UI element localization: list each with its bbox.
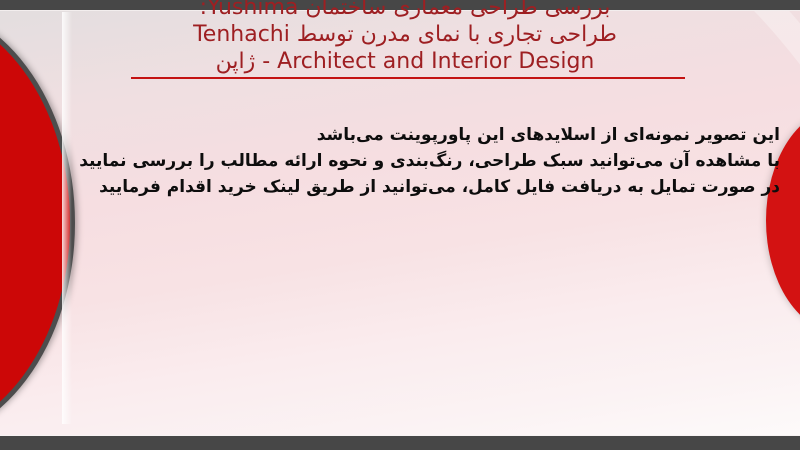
presentation-slide: بررسی طراحی معماری ساختمان Yushima: طراح…	[0, 0, 800, 450]
slide-title-line-3: Architect and Interior Design - ژاپن	[110, 48, 700, 75]
slide-body-line-1: این تصویر نمونه‌ای از اسلایدهای این پاور…	[120, 122, 780, 148]
slide-body-line-2: با مشاهده آن می‌توانید سبک طراحی، رنگ‌بن…	[120, 148, 780, 174]
title-divider-rule	[131, 77, 685, 79]
slide-title-line-2: طراحی تجاری با نمای مدرن توسط Tenhachi	[110, 21, 700, 48]
slide-body-line-3: در صورت تمایل به دریافت فایل کامل، می‌تو…	[120, 174, 780, 200]
slide-title-line-1: بررسی طراحی معماری ساختمان Yushima:	[110, 0, 700, 21]
slide-title: بررسی طراحی معماری ساختمان Yushima: طراح…	[110, 0, 700, 75]
slide-body-text: این تصویر نمونه‌ای از اسلایدهای این پاور…	[120, 122, 780, 200]
